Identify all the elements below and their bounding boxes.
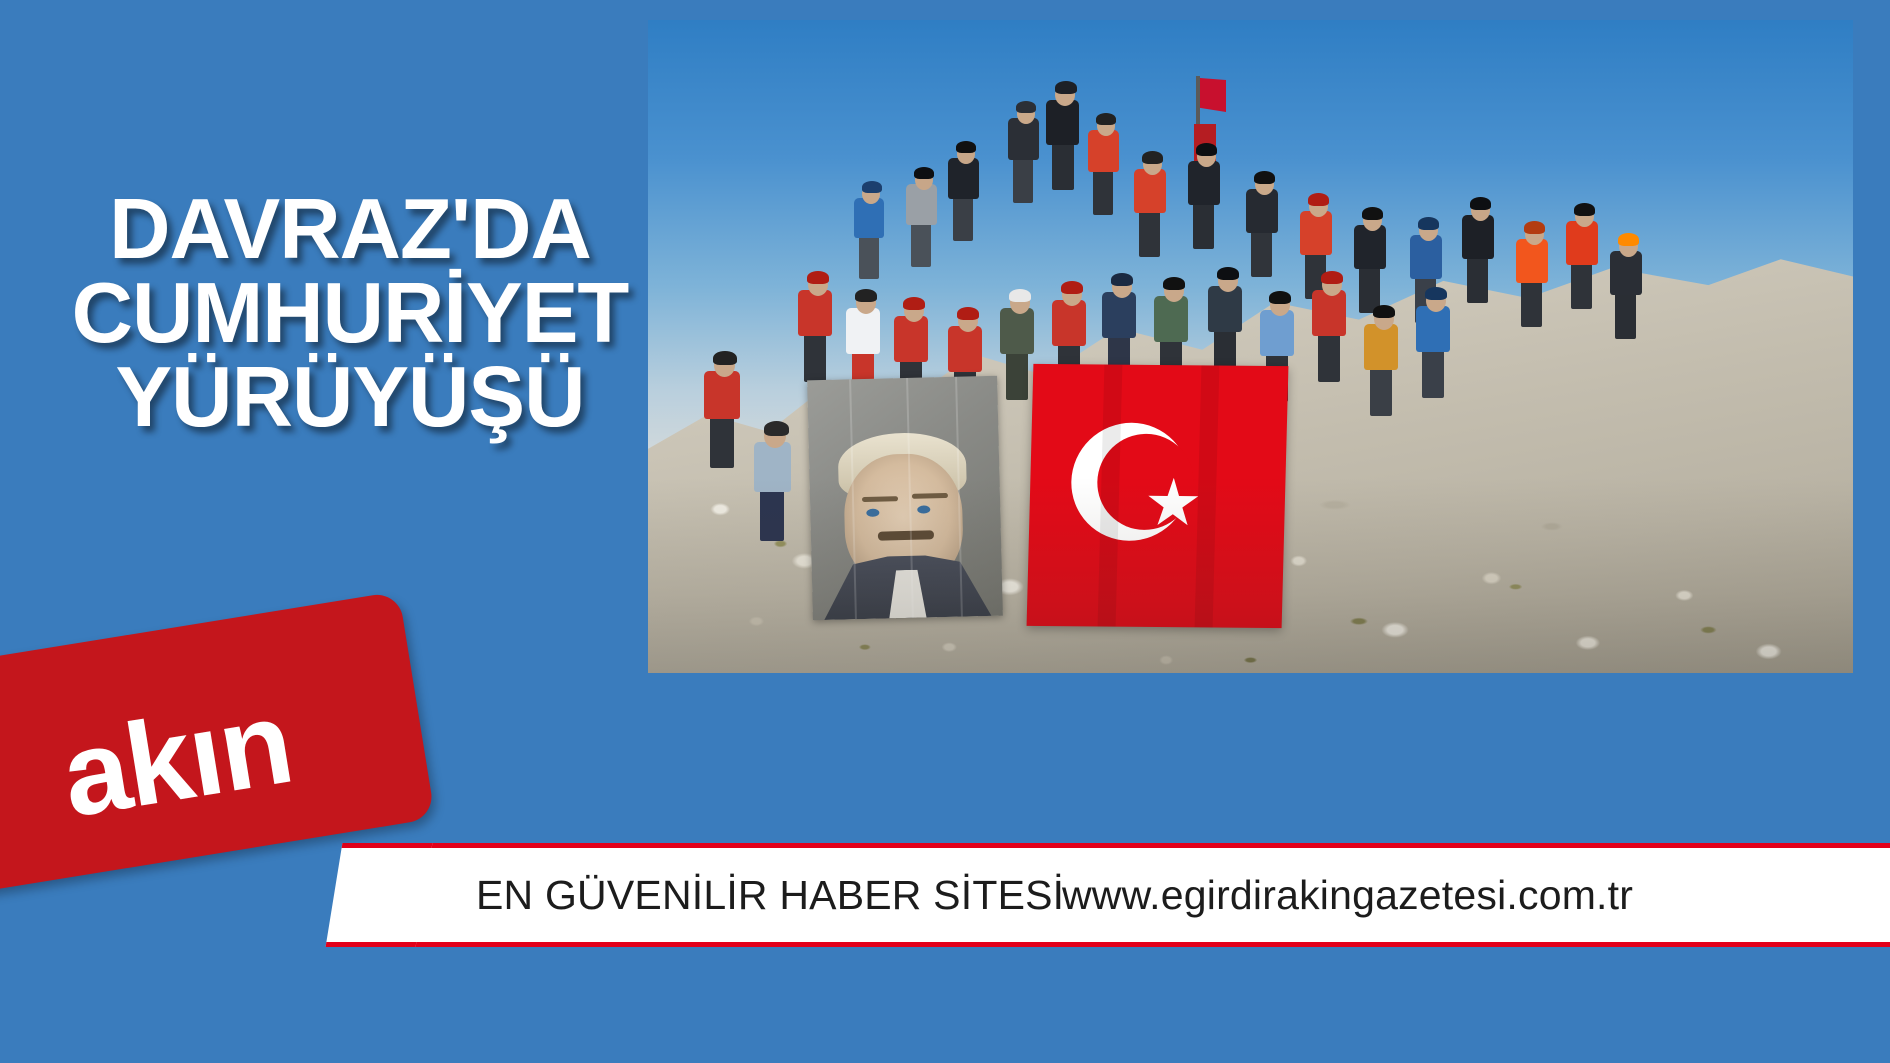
person-jacket <box>1088 130 1119 172</box>
person-jacket <box>1354 225 1386 269</box>
person-legs <box>1193 201 1214 249</box>
headline-line-1: DAVRAZ'DA <box>0 188 700 272</box>
news-photo <box>648 20 1853 673</box>
person-hat <box>1574 203 1595 216</box>
crowd-person <box>798 270 832 382</box>
person-hat <box>1142 151 1163 164</box>
person-jacket <box>1416 306 1450 352</box>
person-hat <box>1418 217 1439 230</box>
crowd-person <box>1000 288 1034 400</box>
footer-slogan: EN GÜVENİLİR HABER SİTESİ <box>476 872 1064 919</box>
person-jacket <box>948 158 979 199</box>
person-jacket <box>1516 239 1548 283</box>
person-legs <box>1571 261 1592 309</box>
person-hat <box>764 421 789 436</box>
person-jacket <box>1000 308 1034 354</box>
person-legs <box>1251 229 1272 277</box>
foreground-shading <box>648 477 1853 673</box>
person-jacket <box>1610 251 1642 295</box>
person-hat <box>1362 207 1383 220</box>
crowd-person <box>1046 80 1079 190</box>
person-jacket <box>1208 286 1242 332</box>
person-jacket <box>948 326 982 372</box>
person-legs <box>953 196 973 241</box>
crowd-person <box>1364 304 1398 416</box>
person-jacket <box>1410 235 1442 279</box>
person-jacket <box>1566 221 1598 265</box>
person-hat <box>1009 289 1031 302</box>
person-jacket <box>894 316 928 362</box>
crowd-person <box>1416 286 1450 398</box>
poster-canvas: DAVRAZ'DA CUMHURİYET YÜRÜYÜŞÜ akın EN GÜ… <box>0 0 1890 1063</box>
crowd-person <box>1208 266 1242 378</box>
person-hat <box>1111 273 1133 286</box>
person-jacket <box>1300 211 1332 255</box>
person-jacket <box>798 290 832 336</box>
person-legs <box>859 235 879 279</box>
crowd-person <box>1188 142 1220 248</box>
person-hat <box>713 351 737 365</box>
person-legs <box>1615 291 1636 339</box>
person-hat <box>1061 281 1083 294</box>
person-legs <box>1467 255 1488 303</box>
person-legs <box>1013 157 1033 203</box>
person-jacket <box>704 371 740 419</box>
person-hat <box>1196 143 1217 156</box>
person-legs <box>1052 141 1074 190</box>
crowd-person <box>1354 206 1386 312</box>
person-hat <box>1470 197 1491 210</box>
person-hat <box>862 181 882 193</box>
crowd-person <box>948 140 979 241</box>
crowd-person <box>704 350 740 468</box>
person-hat <box>1373 305 1395 318</box>
person-jacket <box>1154 296 1188 342</box>
person-legs <box>710 415 734 468</box>
person-legs <box>1422 348 1444 398</box>
person-hat <box>807 271 829 284</box>
person-hat <box>1254 171 1275 184</box>
person-hat <box>957 307 979 320</box>
person-jacket <box>1052 300 1086 346</box>
person-jacket <box>1008 118 1039 160</box>
person-hat <box>1016 101 1036 113</box>
person-jacket <box>1312 290 1346 336</box>
person-hat <box>914 167 934 179</box>
person-jacket <box>906 184 937 225</box>
person-jacket <box>846 308 880 354</box>
footer-site-url[interactable]: www.egirdirakingazetesi.com.tr <box>1062 872 1633 919</box>
summit-pole-flag-icon <box>1200 78 1226 112</box>
person-legs <box>1318 332 1340 382</box>
person-hat <box>1163 277 1185 290</box>
headline: DAVRAZ'DA CUMHURİYET YÜRÜYÜŞÜ <box>0 188 700 440</box>
person-hat <box>1096 113 1116 125</box>
crowd-person <box>906 166 937 267</box>
crowd-person <box>854 180 884 279</box>
person-jacket <box>1102 292 1136 338</box>
person-legs <box>1006 350 1028 400</box>
crowd-person <box>1610 232 1642 338</box>
person-hat <box>1308 193 1329 206</box>
person-jacket <box>1260 310 1294 356</box>
crowd-person <box>1134 150 1166 256</box>
footer-bar-skewed-edge <box>326 843 433 947</box>
person-hat <box>1217 267 1239 280</box>
person-jacket <box>1046 100 1079 145</box>
footer-bar: EN GÜVENİLİR HABER SİTESİ www.egirdiraki… <box>380 843 1890 947</box>
crowd-person <box>1516 220 1548 326</box>
person-legs <box>1139 209 1160 257</box>
crowd-person <box>1008 100 1039 203</box>
person-legs <box>1093 169 1113 215</box>
person-jacket <box>854 198 884 238</box>
person-legs <box>1370 366 1392 416</box>
headline-line-2: CUMHURİYET <box>0 272 700 356</box>
person-hat <box>1618 233 1639 246</box>
person-hat <box>956 141 976 153</box>
crowd-person <box>1246 170 1278 276</box>
person-legs <box>1521 279 1542 327</box>
person-hat <box>903 297 925 310</box>
crowd-person <box>1462 196 1494 302</box>
crowd-person <box>1088 112 1119 215</box>
crowd-person <box>1312 270 1346 382</box>
crowd-person <box>1566 202 1598 308</box>
person-hat <box>1321 271 1343 284</box>
person-jacket <box>1364 324 1398 370</box>
person-hat <box>1269 291 1291 304</box>
person-hat <box>1055 81 1077 94</box>
person-jacket <box>1134 169 1166 213</box>
person-hat <box>1425 287 1447 300</box>
person-legs <box>804 332 826 382</box>
person-hat <box>1524 221 1545 234</box>
person-legs <box>911 222 931 267</box>
person-jacket <box>1246 189 1278 233</box>
person-jacket <box>1188 161 1220 205</box>
headline-line-3: YÜRÜYÜŞÜ <box>0 356 700 440</box>
person-hat <box>855 289 877 302</box>
person-jacket <box>1462 215 1494 259</box>
